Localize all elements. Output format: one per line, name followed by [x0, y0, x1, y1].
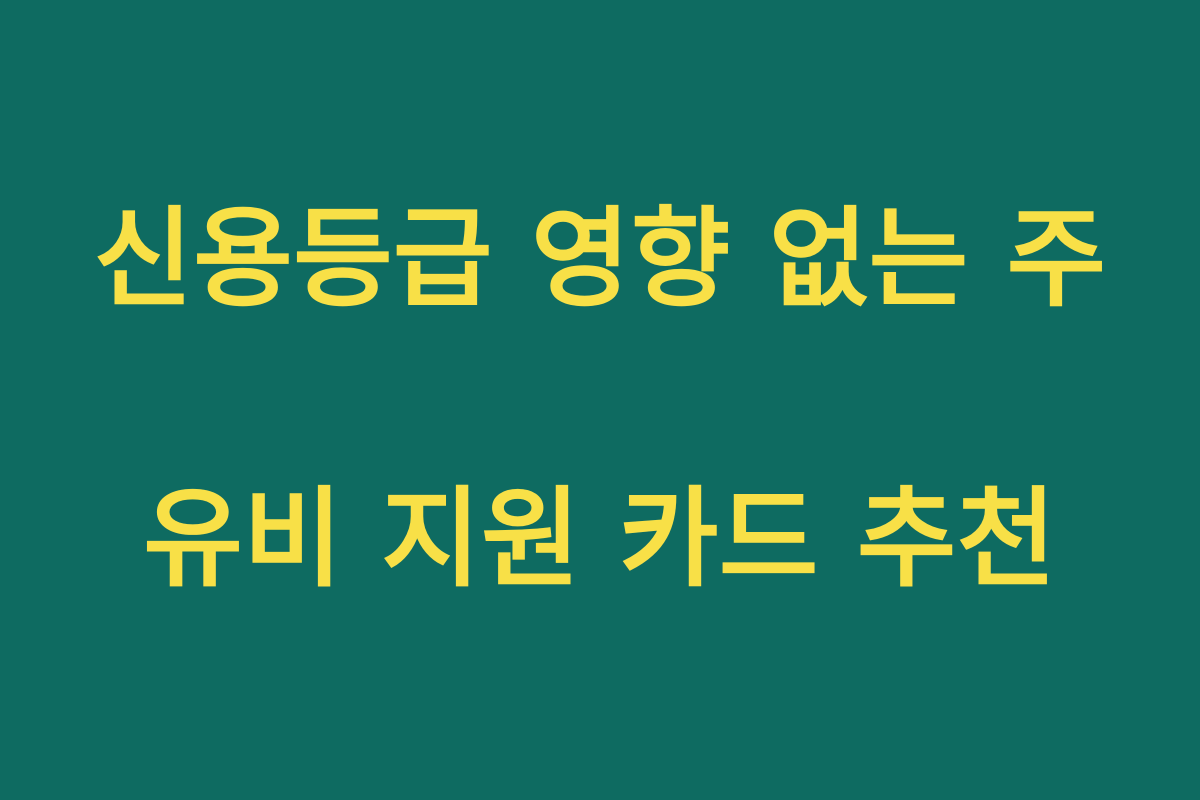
page-title: 신용등급 영향 없는 주 유비 지원 카드 추천: [0, 50, 1200, 750]
headline-line-1: 신용등급 영향 없는 주: [40, 190, 1160, 330]
headline-line-2: 유비 지원 카드 추천: [40, 470, 1160, 610]
banner-canvas: 신용등급 영향 없는 주 유비 지원 카드 추천: [0, 0, 1200, 800]
